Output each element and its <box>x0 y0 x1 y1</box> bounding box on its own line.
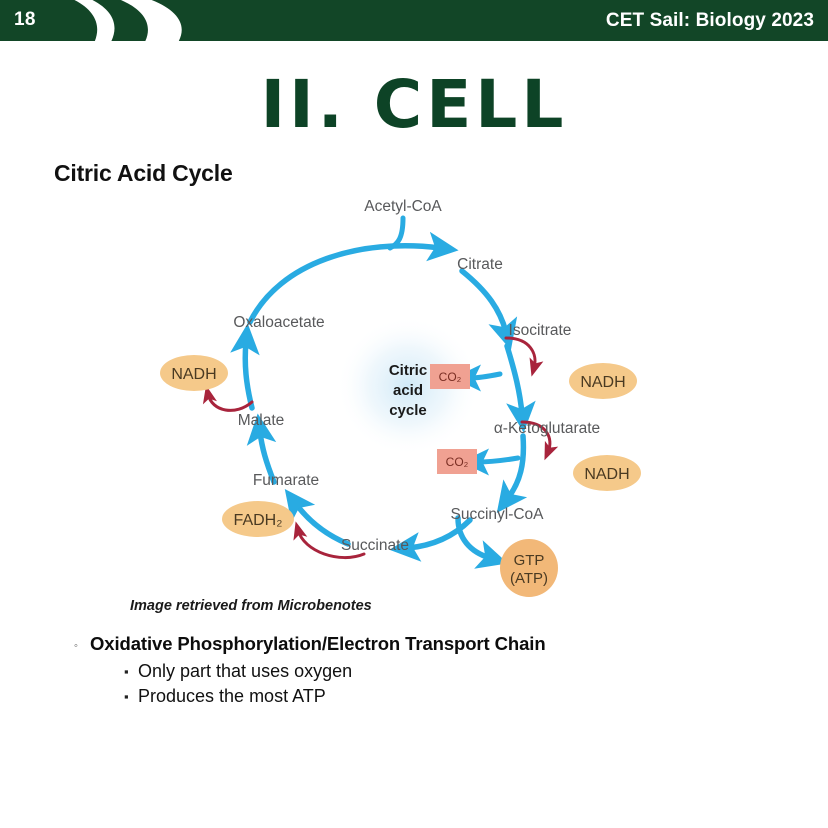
bullet-text: Oxidative Phosphorylation/Electron Trans… <box>90 633 546 655</box>
badge-label: CO₂ <box>439 370 462 384</box>
center-label-line1: Citric <box>389 362 427 379</box>
badge-label: FADH₂ <box>234 512 283 529</box>
badge-label-line2: (ATP) <box>510 570 548 587</box>
page-title: II. CELL <box>0 66 828 143</box>
center-label: Citric acid cycle <box>389 362 427 419</box>
badge-fadh2: FADH₂ <box>222 501 294 537</box>
bullet-item-level1: ◦ Oxidative Phosphorylation/Electron Tra… <box>74 633 774 659</box>
header-swoosh-decoration <box>0 0 280 41</box>
bullet-marker-circle-icon: ◦ <box>74 633 90 659</box>
badge-label: NADH <box>584 466 629 483</box>
arrow-co2-second <box>478 458 518 462</box>
label-fumarate: Fumarate <box>253 472 319 489</box>
label-acetyl-coa: Acetyl-CoA <box>364 198 442 215</box>
badge-nadh-ketoglutarate: NADH <box>573 455 641 491</box>
arrow-citrate-to-isocitrate <box>462 271 506 332</box>
center-label-line2: acid <box>393 382 423 399</box>
badge-gtp-atp: GTP (ATP) <box>500 539 558 597</box>
citric-acid-cycle-diagram: Acetyl-CoA Citrate Isocitrate α-Ketoglut… <box>140 186 680 606</box>
badge-co2-first: CO₂ <box>430 364 470 389</box>
image-caption: Image retrieved from Microbenotes <box>130 598 372 614</box>
label-succinyl-coa: Succinyl-CoA <box>450 506 544 523</box>
section-heading: Citric Acid Cycle <box>54 160 233 187</box>
header-title: CET Sail: Biology 2023 <box>606 10 814 32</box>
badge-nadh-isocitrate: NADH <box>569 363 637 399</box>
arrow-ketoglutarate-to-succinylcoa <box>508 436 523 498</box>
label-citrate: Citrate <box>457 256 503 273</box>
badge-label: NADH <box>171 366 216 383</box>
badge-nadh-malate: NADH <box>160 355 228 391</box>
label-isocitrate: Isocitrate <box>509 322 572 339</box>
center-label-line3: cycle <box>389 402 427 419</box>
badge-co2-second: CO₂ <box>437 449 477 474</box>
badge-label: NADH <box>580 374 625 391</box>
bullet-item-level2: ▪ Only part that uses oxygen <box>124 661 774 686</box>
bullet-text: Produces the most ATP <box>138 686 326 707</box>
bullet-text: Only part that uses oxygen <box>138 661 352 682</box>
badge-label-line1: GTP <box>514 552 545 569</box>
label-succinate: Succinate <box>341 537 409 554</box>
cycle-svg: Acetyl-CoA Citrate Isocitrate α-Ketoglut… <box>140 186 680 606</box>
slide: 18 CET Sail: Biology 2023 II. CELL Citri… <box>0 0 828 828</box>
label-malate: Malate <box>238 412 285 429</box>
badge-label: CO₂ <box>446 455 469 469</box>
arrow-isocitrate-to-ketoglutarate <box>507 346 522 414</box>
arrow-oxaloacetate-to-citrate <box>250 246 440 322</box>
slide-header: 18 CET Sail: Biology 2023 <box>0 0 828 41</box>
bullet-list: ◦ Oxidative Phosphorylation/Electron Tra… <box>74 633 774 711</box>
arrow-malate-to-oxaloacetate <box>245 342 252 408</box>
bullet-marker-square-icon: ▪ <box>124 686 138 708</box>
page-number: 18 <box>14 9 36 31</box>
bullet-item-level2: ▪ Produces the most ATP <box>124 686 774 711</box>
bullet-marker-square-icon: ▪ <box>124 661 138 683</box>
arc-nadh-malate <box>208 394 252 410</box>
label-ketoglutarate: α-Ketoglutarate <box>494 420 600 437</box>
label-oxaloacetate: Oxaloacetate <box>233 314 324 331</box>
